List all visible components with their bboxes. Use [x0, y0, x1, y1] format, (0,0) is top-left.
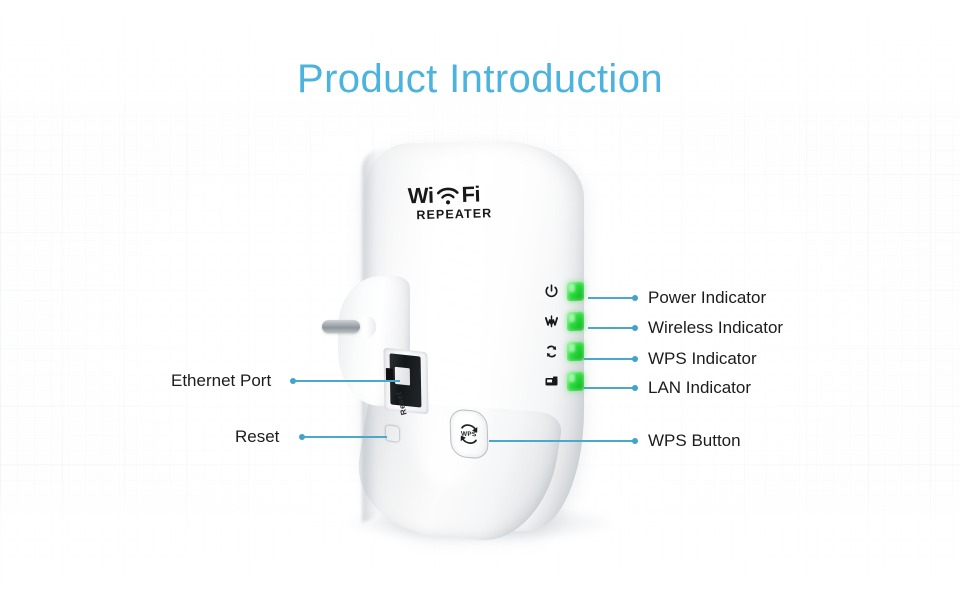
wps-refresh-glyph-icon: WPS: [456, 420, 483, 448]
led-row-wps: [542, 336, 584, 366]
callout-label-reset: Reset: [235, 427, 279, 447]
callout-line-power: [588, 297, 634, 299]
callout-dot-lan: [632, 385, 638, 391]
callout-line-wps-button: [489, 440, 634, 442]
wireless-icon: [542, 312, 560, 330]
callout-line-reset: [303, 436, 387, 438]
led-row-power: [542, 276, 584, 306]
brand-logo: Wi Fi REPEATER: [407, 179, 516, 223]
wps-button-label: WPS: [461, 430, 477, 438]
callout-label-lan-indicator: LAN Indicator: [648, 378, 751, 398]
power-icon: [542, 282, 560, 300]
wps-refresh-icon: [542, 342, 560, 360]
callout-label-ethernet-port: Ethernet Port: [171, 371, 271, 391]
logo-word-wi: Wi: [408, 185, 434, 208]
lan-icon: [542, 372, 560, 390]
callout-label-wps-button: WPS Button: [648, 431, 741, 451]
led-row-wireless: [542, 306, 584, 336]
led-lamp-power: [567, 281, 584, 301]
callout-line-ethernet-port: [294, 380, 400, 382]
wifi-repeater-device: Wi Fi REPEATER: [330, 128, 650, 548]
led-lamp-wireless: [567, 311, 584, 331]
wifi-arc-icon: [434, 183, 461, 206]
callout-label-wireless-indicator: Wireless Indicator: [648, 318, 783, 338]
ethernet-port-contact-block: [395, 367, 410, 386]
callout-label-power-indicator: Power Indicator: [648, 288, 766, 308]
led-indicator-group: [542, 276, 584, 396]
product-introduction-slide: Product Introduction Wi Fi: [0, 0, 960, 593]
callout-dot-wps-button: [632, 438, 638, 444]
led-lamp-lan: [567, 371, 584, 391]
logo-subtitle: REPEATER: [416, 206, 516, 223]
led-lamp-wps: [567, 341, 584, 361]
callout-line-wireless: [588, 327, 634, 329]
reset-button[interactable]: [386, 425, 399, 442]
callout-dot-wps-indicator: [632, 356, 638, 362]
callout-dot-power: [632, 295, 638, 301]
callout-label-wps-indicator: WPS Indicator: [648, 349, 757, 369]
callout-dot-wireless: [632, 325, 638, 331]
power-plug-prong: [322, 320, 360, 333]
led-row-lan: [542, 366, 584, 396]
wps-button[interactable]: WPS: [449, 408, 489, 460]
page-title: Product Introduction: [0, 57, 960, 102]
logo-word-fi: Fi: [461, 184, 480, 206]
callout-line-wps-indicator: [584, 358, 634, 360]
callout-line-lan: [584, 387, 634, 389]
